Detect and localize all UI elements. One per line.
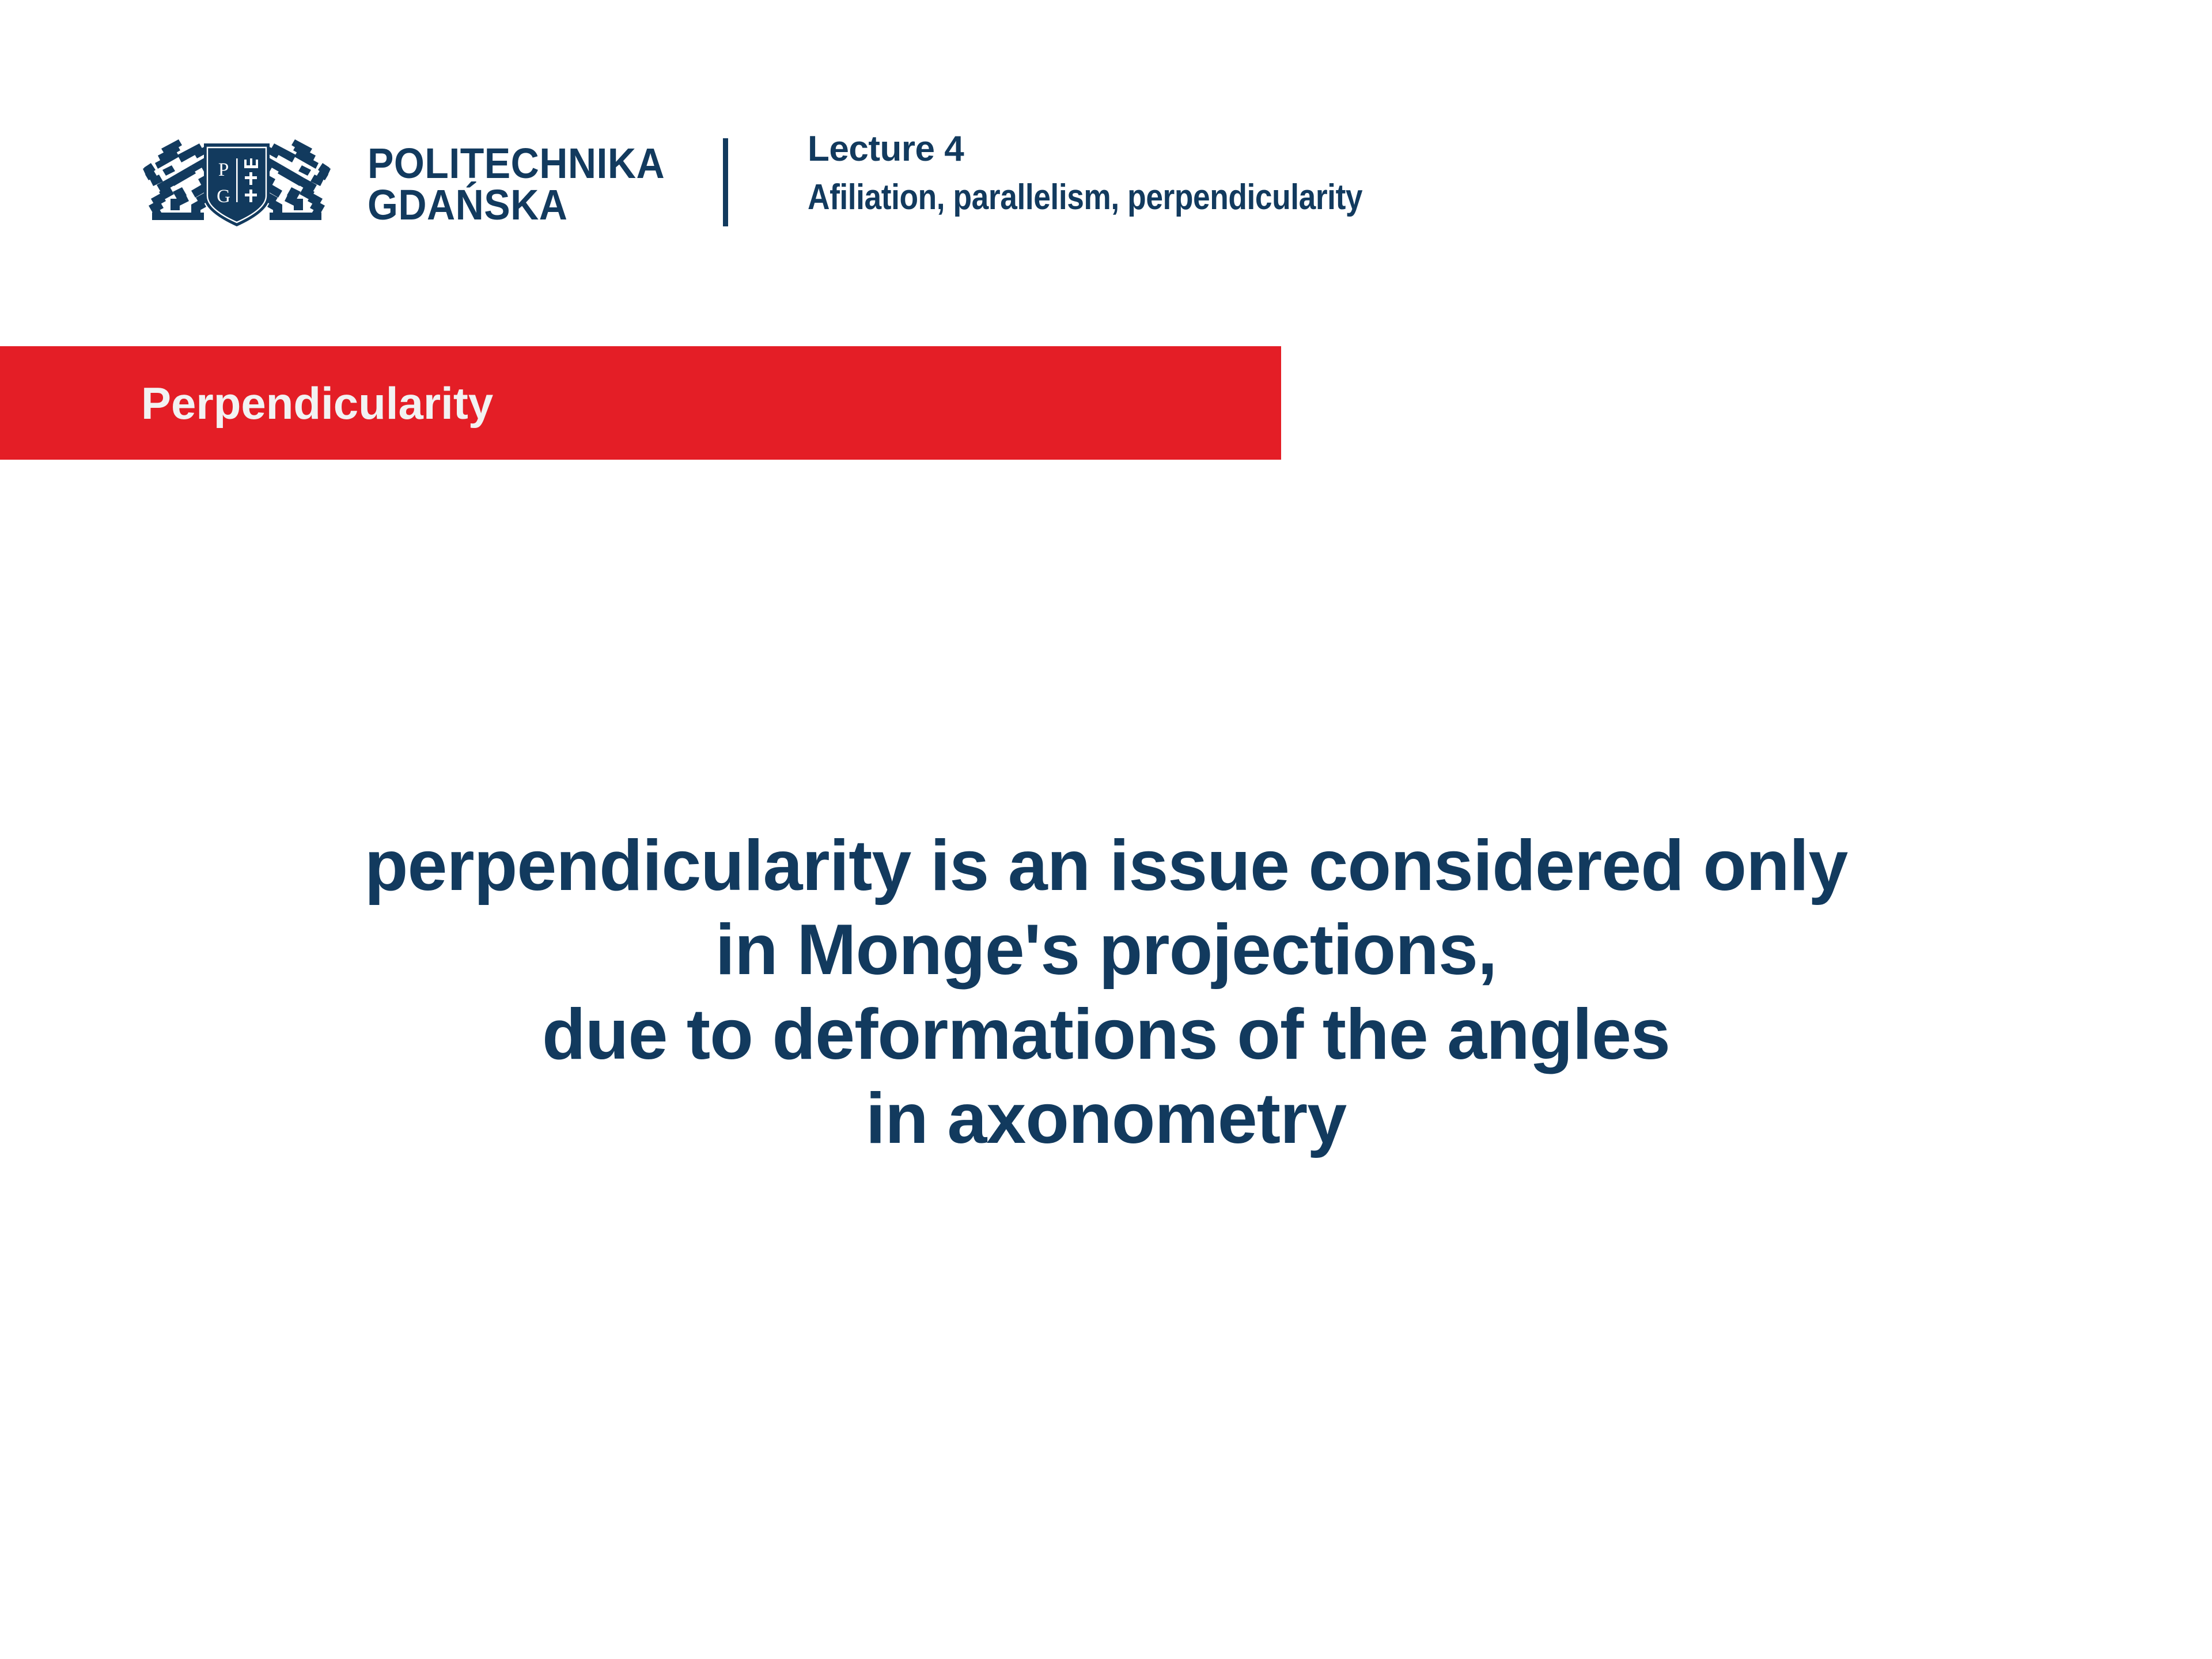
- brand-lockup: P G POLITECHNIKA GDA: [136, 130, 691, 239]
- wordmark-line-2: GDAŃSKA: [368, 184, 665, 226]
- statement-line-2: in Monge's projections,: [0, 908, 2212, 992]
- body-statement: perpendicularity is an issue considered …: [0, 824, 2212, 1161]
- lecture-title: Lecture 4: [808, 131, 1453, 167]
- section-banner-title: Perpendicularity: [141, 381, 493, 426]
- statement-line-3: due to deformations of the angles: [0, 993, 2212, 1077]
- university-wordmark: POLITECHNIKA GDAŃSKA: [368, 143, 665, 226]
- politechnika-gdanska-crest-icon: P G: [136, 130, 338, 239]
- slide-body: perpendicularity is an issue considered …: [0, 824, 2212, 1161]
- statement-line-1: perpendicularity is an issue considered …: [0, 824, 2212, 908]
- svg-text:P: P: [218, 160, 229, 180]
- lecture-info: Lecture 4 Afiliation, parallelism, perpe…: [808, 131, 1453, 215]
- statement-line-4: in axonometry: [0, 1077, 2212, 1161]
- slide-header: P G POLITECHNIKA GDA: [0, 0, 2212, 300]
- lecture-subtitle: Afiliation, parallelism, perpendicularit…: [808, 180, 1362, 215]
- wordmark-line-1: POLITECHNIKA: [368, 143, 665, 184]
- header-divider: [723, 138, 728, 226]
- section-banner: Perpendicularity: [0, 346, 1281, 460]
- svg-text:G: G: [217, 186, 230, 207]
